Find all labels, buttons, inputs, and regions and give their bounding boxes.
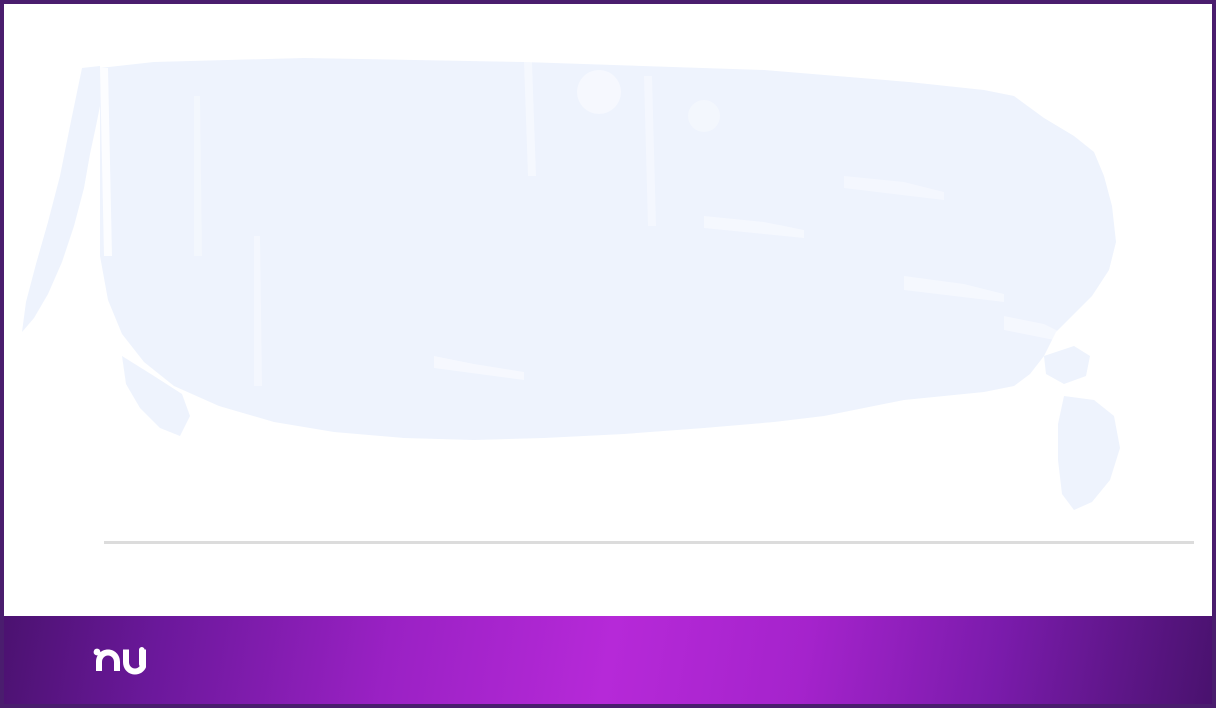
us-map-background — [4, 56, 1212, 604]
market-us-logo-icon — [92, 640, 146, 680]
y-axis-tick-marks — [98, 56, 108, 604]
brand-logo[interactable] — [92, 640, 156, 680]
footer-banner — [4, 616, 1212, 704]
zero-baseline — [104, 541, 1194, 544]
chart-plot-area — [4, 56, 1212, 604]
infographic-root — [0, 0, 1216, 708]
us-map-shape — [22, 58, 1120, 510]
